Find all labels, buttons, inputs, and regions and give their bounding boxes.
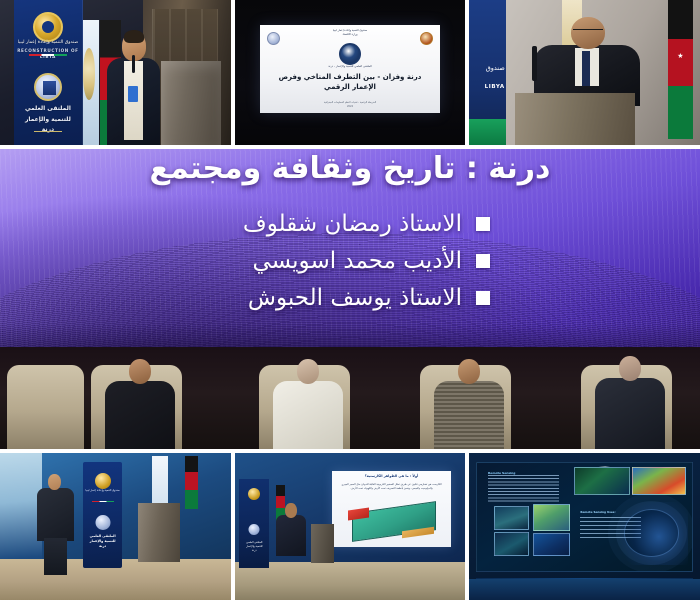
square-bullet-icon xyxy=(476,291,490,305)
fund-seal-icon xyxy=(95,473,111,489)
slide-header: صندوق التنمية وإعادة إعمار ليبيا وزارة ا… xyxy=(260,29,440,37)
flag-stripe-divider xyxy=(92,501,114,502)
forum-seal-icon xyxy=(34,73,62,101)
panelist-body xyxy=(434,381,504,449)
block-diagram xyxy=(346,503,440,540)
banner-underline xyxy=(34,131,61,132)
photo-remote-sensing-slide[interactable]: Remote Sensing Remote Sensing Uses: xyxy=(469,453,700,600)
panelist-body xyxy=(273,381,343,449)
banner-forum-ar: الملتقى العلمي للتنمية والإعمار درنة xyxy=(241,541,268,553)
rollup-banner: الملتقى العلمي للتنمية والإعمار درنة xyxy=(239,479,269,567)
sponsor-backdrop-panel: صندوق LIBYA xyxy=(469,0,506,145)
list-item: الاستاذ رمضان شقلوف xyxy=(243,211,490,237)
led-wall-screen: Remote Sensing Remote Sensing Uses: xyxy=(476,462,693,572)
screen-heading: درنة : تاريخ وثقافة ومجتمع xyxy=(0,151,700,186)
organization-flag xyxy=(152,456,168,506)
uses-title: Remote Sensing Uses: xyxy=(580,510,615,514)
panelist-body xyxy=(105,381,175,449)
photo-projection-screen-title-slide[interactable]: صندوق التنمية وإعادة إعمار ليبيا وزارة ا… xyxy=(235,0,466,145)
speaker-badge xyxy=(128,86,138,102)
lectern xyxy=(515,93,635,145)
panelist-figure xyxy=(595,356,665,449)
presenter-head xyxy=(48,474,61,490)
panelist-head xyxy=(458,359,480,384)
panelist-head xyxy=(619,356,641,381)
slide-footer: الخريطة الرقمية - تقنيات النظم المعلومات… xyxy=(260,101,440,108)
presenter-legs xyxy=(44,538,67,575)
projection-screen: صندوق التنمية وإعادة إعمار ليبيا وزارة ا… xyxy=(260,25,440,113)
empty-armchair xyxy=(7,365,84,449)
speaker-list: الاستاذ رمضان شقلوف الأديب محمد اسويسي ا… xyxy=(243,211,490,322)
microphone-icon xyxy=(132,55,135,73)
satellite-image-thumbnail xyxy=(494,532,528,556)
panelist-figure xyxy=(273,359,343,449)
rollup-banner: صندوق التنمية وإعادة إعمار ليبيا RECONST… xyxy=(14,0,83,145)
satellite-image-thumbnail xyxy=(533,533,570,556)
backdrop-text-en: LIBYA xyxy=(485,84,505,90)
satellite-image-thumbnail xyxy=(574,467,630,495)
forum-emblem-icon xyxy=(339,43,361,65)
fund-seal-icon xyxy=(33,12,63,42)
photo-geology-slide-presentation[interactable]: أولاً : ما هي الظواهر الكارستية؟ الكارست… xyxy=(235,453,466,600)
slide-body: الكارست هي تضاريس تتكون عن طريق تحلل الص… xyxy=(340,483,443,491)
presenter-body xyxy=(37,488,74,541)
panelist-figure xyxy=(105,359,175,449)
podium xyxy=(138,503,180,562)
photo-man-speaking-at-lectern[interactable]: صندوق LIBYA xyxy=(469,0,700,145)
banner-org-ar: صندوق التنمية وإعادة إعمار ليبيا xyxy=(14,39,82,46)
stage-floor xyxy=(235,562,466,600)
collage-row-middle: درنة : تاريخ وثقافة ومجتمع الاستاذ رمضان… xyxy=(0,149,700,449)
forum-seal-icon xyxy=(95,515,110,530)
photo-panel-discussion-stage[interactable]: درنة : تاريخ وثقافة ومجتمع الاستاذ رمضان… xyxy=(0,149,700,449)
photo-presenter-on-stage[interactable]: صندوق التنمية وإعادة إعمار ليبيا الملتقى… xyxy=(0,453,231,600)
banner-org-ar: صندوق التنمية وإعادة إعمار ليبيا xyxy=(85,489,120,493)
speaker-name: الأديب محمد اسويسي xyxy=(252,248,462,274)
list-item: الاستاذ يوسف الحبوش xyxy=(243,285,490,311)
panelist-body xyxy=(595,378,665,449)
fund-seal-icon xyxy=(248,488,260,500)
flag-stripe-divider xyxy=(29,54,67,56)
presenter-head xyxy=(285,503,297,518)
podium xyxy=(311,524,334,564)
slide-definition-text xyxy=(488,475,559,503)
panelist-head xyxy=(129,359,151,384)
stage-floor xyxy=(469,579,700,600)
geology-slide: أولاً : ما هي الظواهر الكارستية؟ الكارست… xyxy=(332,471,452,547)
backdrop-text-ar: صندوق xyxy=(486,64,505,72)
banner-forum-ar: الملتقى العلمي للتنمية والإعمار درنة xyxy=(85,534,120,550)
square-bullet-icon xyxy=(476,254,490,268)
collage-row-top: صندوق التنمية وإعادة إعمار ليبيا RECONST… xyxy=(0,0,700,145)
satellite-image-thumbnail xyxy=(533,504,570,531)
slide-title: أولاً : ما هي الظواهر الكارستية؟ xyxy=(339,474,445,478)
panelist-head xyxy=(297,359,319,384)
podium xyxy=(161,61,221,145)
speaker-tie xyxy=(582,51,590,86)
speaker-name: الاستاذ يوسف الحبوش xyxy=(248,285,462,311)
microphone-icon xyxy=(532,46,537,81)
backdrop-green-band xyxy=(469,119,506,145)
satellite-image-thumbnail xyxy=(494,506,528,530)
speaker-figure xyxy=(106,32,161,145)
collage-row-bottom: صندوق التنمية وإعادة إعمار ليبيا الملتقى… xyxy=(0,453,700,600)
satellite-image-thumbnail xyxy=(632,467,686,495)
presenter-body xyxy=(276,515,306,556)
glasses-icon xyxy=(573,29,603,33)
rollup-banner: صندوق التنمية وإعادة إعمار ليبيا الملتقى… xyxy=(83,462,122,568)
radar-graphic xyxy=(615,502,688,565)
photo-collage: صندوق التنمية وإعادة إعمار ليبيا RECONST… xyxy=(0,0,700,600)
forum-seal-icon xyxy=(249,524,260,535)
photo-speaker-with-microphone[interactable]: صندوق التنمية وإعادة إعمار ليبيا RECONST… xyxy=(0,0,231,145)
panelist-figure xyxy=(434,359,504,449)
slide-title: درنة وفزان - بين التطرف المناخي وفرص الإ… xyxy=(267,72,433,94)
speaker-name: الاستاذ رمضان شقلوف xyxy=(243,211,462,237)
libya-flag xyxy=(668,0,693,139)
libya-flag xyxy=(185,456,199,509)
list-item: الأديب محمد اسويسي xyxy=(243,248,490,274)
slide-subtitle: الملتقى العلمي للتنمية والإعمار - درنة xyxy=(260,64,440,68)
square-bullet-icon xyxy=(476,217,490,231)
